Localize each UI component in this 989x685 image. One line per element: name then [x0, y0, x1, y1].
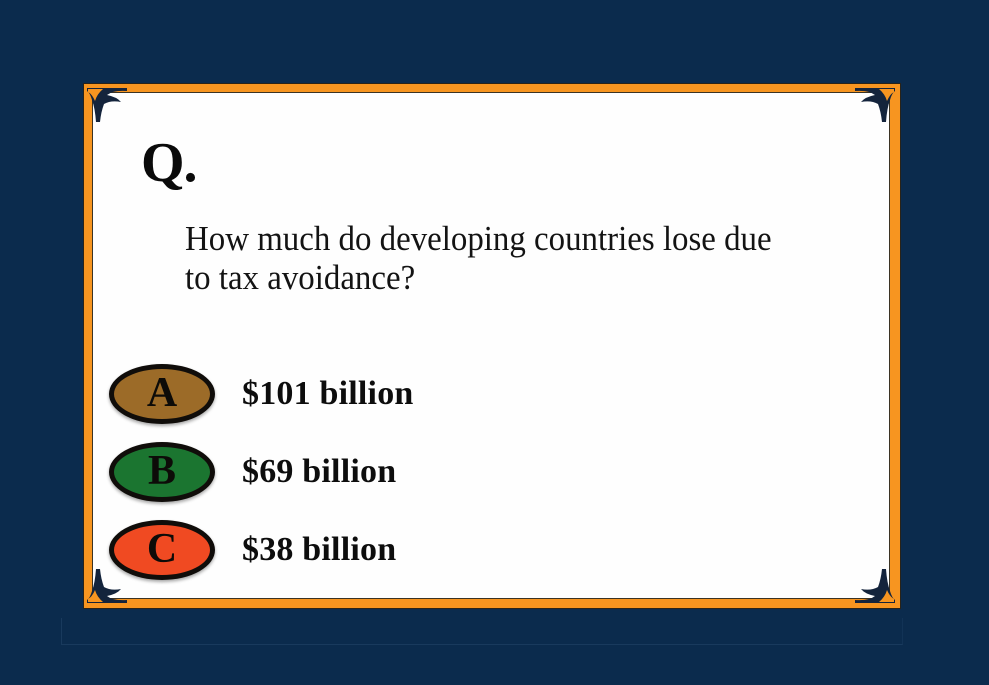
- corner-flourish-icon-bottom-right: [855, 569, 895, 603]
- answer-letter-c: C: [147, 528, 177, 570]
- question-marker: Q.: [141, 135, 197, 191]
- answer-oval-b[interactable]: B: [109, 442, 215, 502]
- question-text: How much do developing countries lose du…: [185, 219, 787, 297]
- answer-options-list: A $101 billion B $69 billion C $38 billi…: [109, 355, 809, 589]
- answer-label-b: $69 billion: [242, 453, 396, 491]
- answer-label-a: $101 billion: [242, 375, 414, 413]
- corner-flourish-icon-top-left: [87, 88, 127, 122]
- quiz-question-card: Q. How much do developing countries lose…: [84, 84, 900, 608]
- answer-option-c[interactable]: C $38 billion: [109, 511, 809, 589]
- answer-option-b[interactable]: B $69 billion: [109, 433, 809, 511]
- answer-oval-a[interactable]: A: [109, 364, 215, 424]
- answer-oval-c[interactable]: C: [109, 520, 215, 580]
- answer-letter-b: B: [148, 450, 176, 492]
- answer-option-a[interactable]: A $101 billion: [109, 355, 809, 433]
- answer-label-c: $38 billion: [242, 531, 396, 569]
- corner-flourish-icon-top-right: [855, 88, 895, 122]
- answer-letter-a: A: [147, 372, 177, 414]
- quiz-card-face: Q. How much do developing countries lose…: [93, 93, 889, 598]
- background-artifact-line: [61, 618, 903, 645]
